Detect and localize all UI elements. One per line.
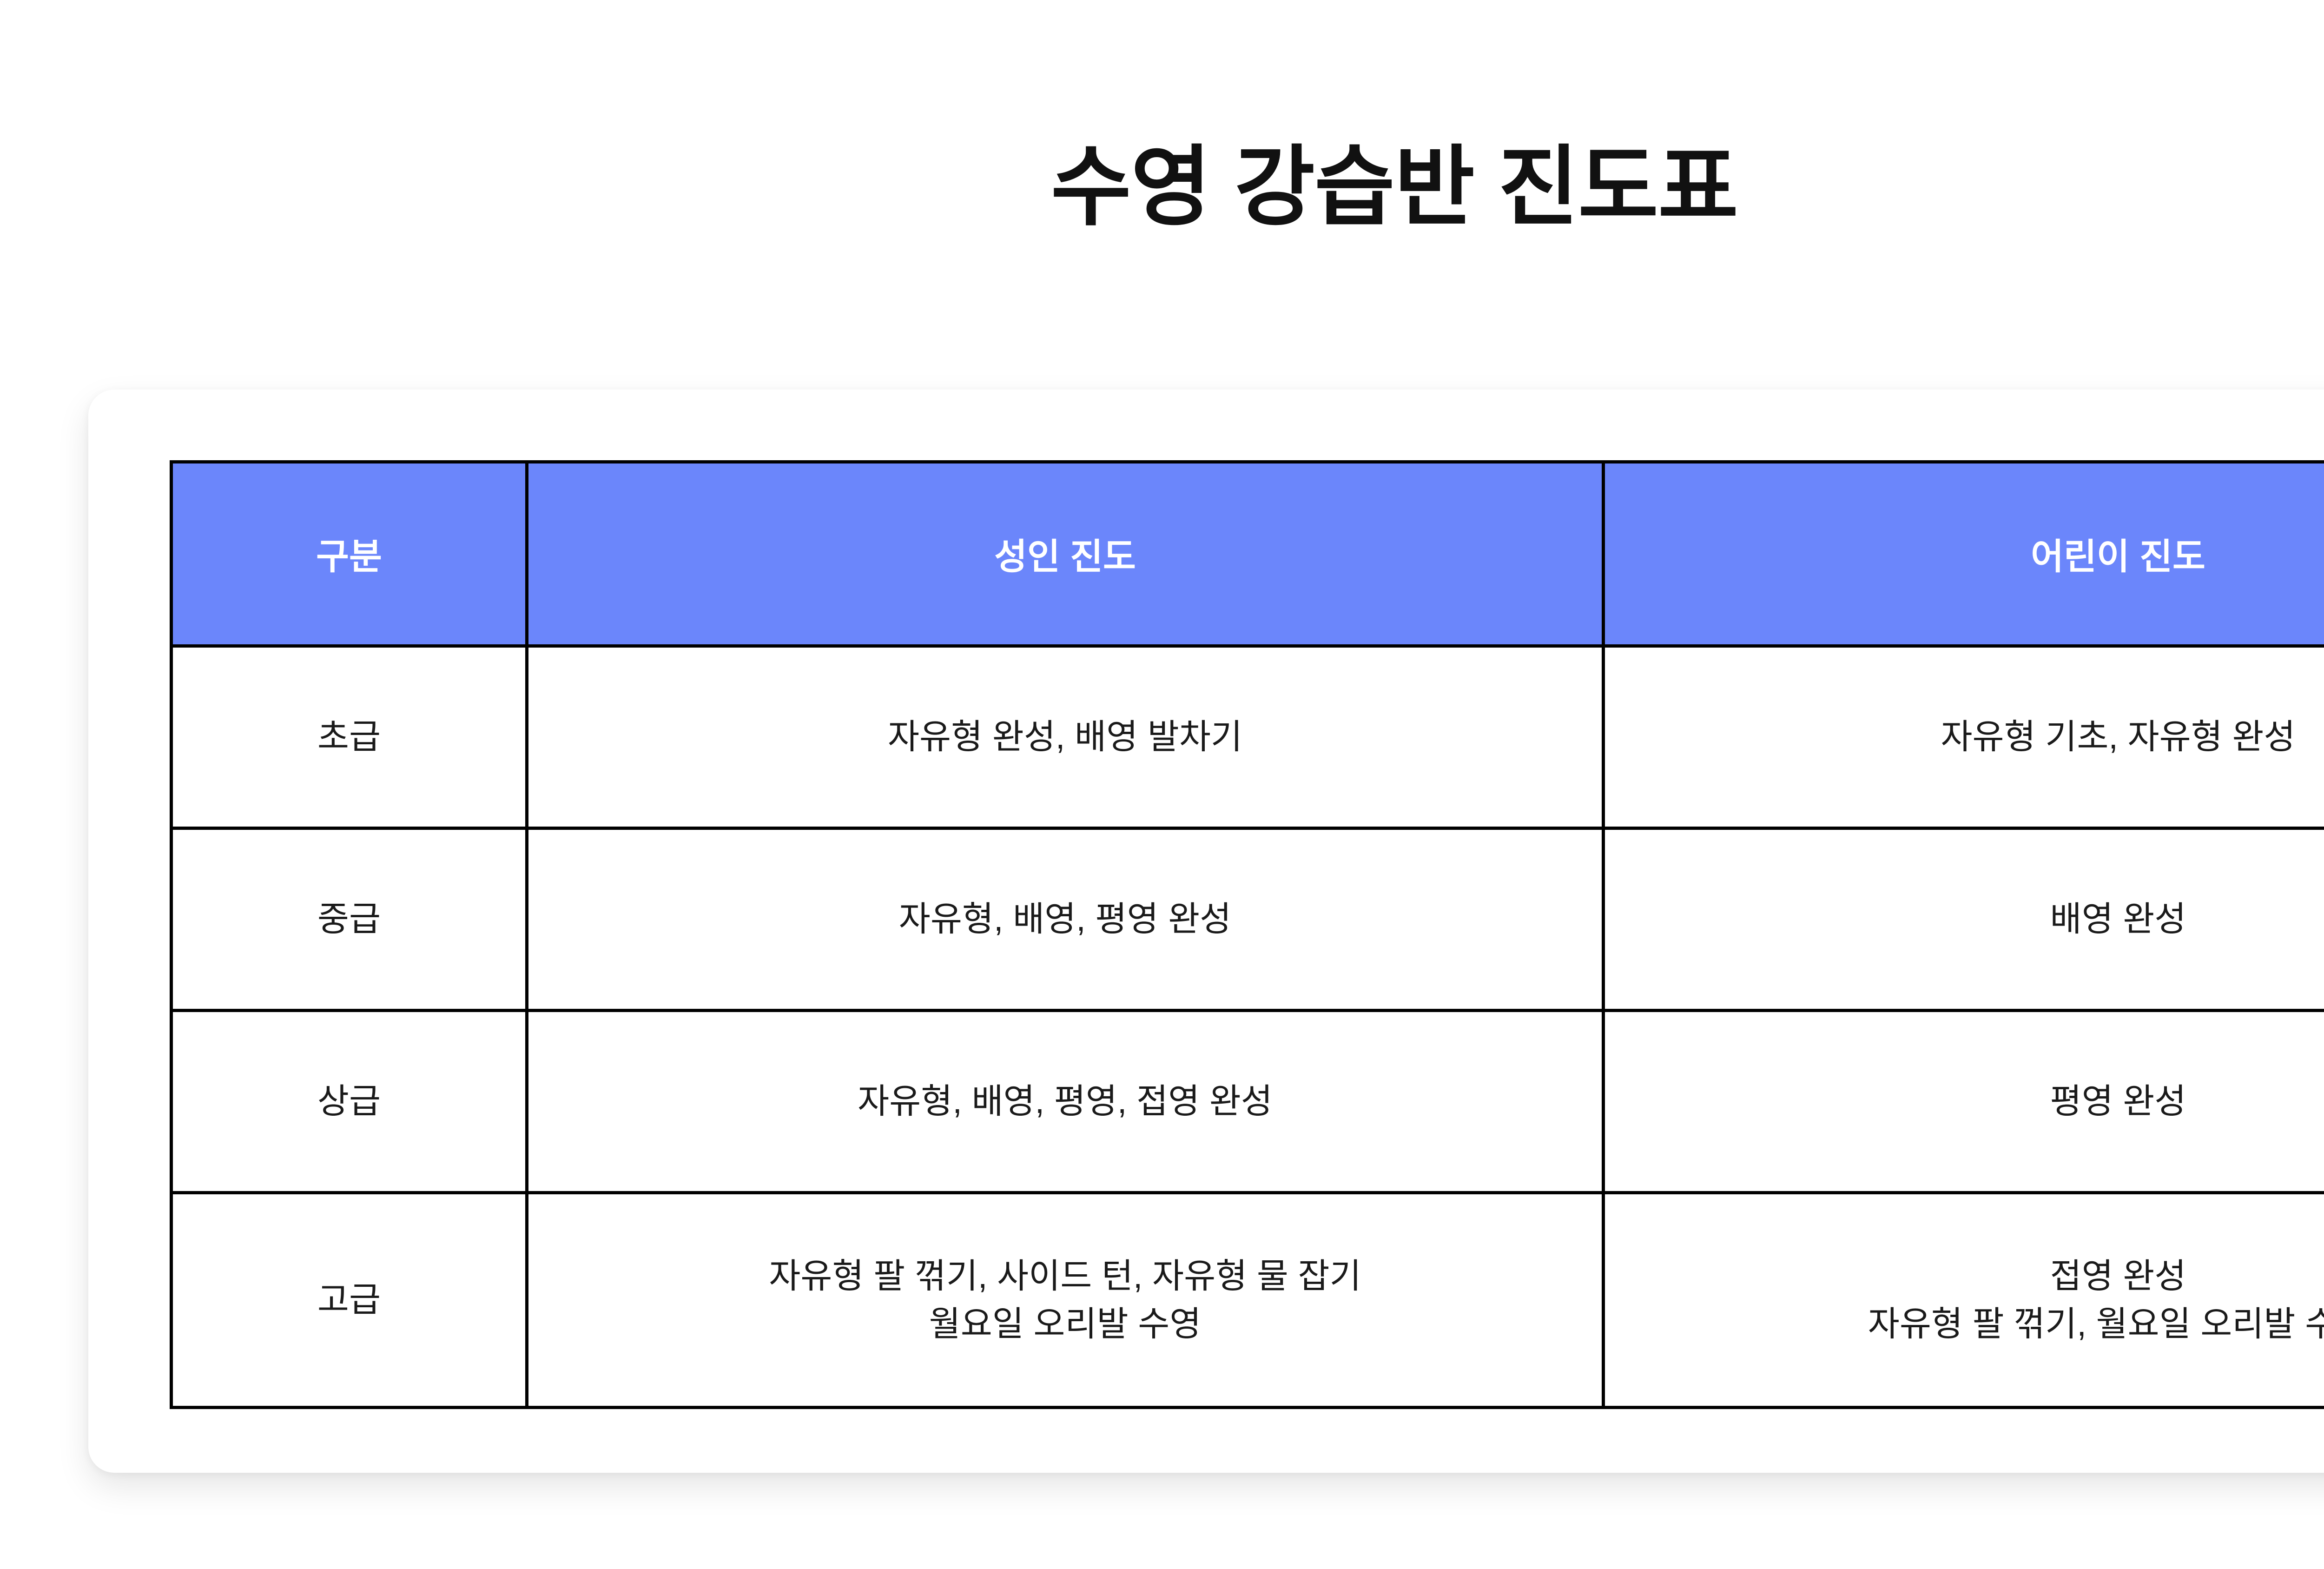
cell-text-line: 자유형, 배영, 평영, 접영 완성 [540, 1078, 1591, 1125]
cell-kids-progress: 접영 완성 자유형 팔 꺾기, 월요일 오리발 수영 [1604, 1193, 2324, 1408]
cell-level: 중급 [172, 828, 527, 1011]
cell-kids-progress: 배영 완성 [1604, 828, 2324, 1011]
cell-level: 상급 [172, 1011, 527, 1193]
table-card: 구분 성인 진도 어린이 진도 초급 자유형 완성, 배영 발차기 자유형 기초… [88, 390, 2324, 1473]
table-head: 구분 성인 진도 어린이 진도 [172, 462, 2324, 646]
cell-text-line: 자유형, 배영, 평영 완성 [540, 895, 1591, 943]
column-header-adult: 성인 진도 [527, 462, 1604, 646]
page-root: 수영 강습반 진도표 구분 성인 진도 어린이 진도 초급 [0, 0, 2324, 1569]
cell-text-line: 배영 완성 [1616, 895, 2324, 943]
cell-kids-progress: 자유형 기초, 자유형 완성 [1604, 646, 2324, 828]
table-row: 상급 자유형, 배영, 평영, 접영 완성 평영 완성 [172, 1011, 2324, 1193]
cell-adult-progress: 자유형 팔 꺾기, 사이드 턴, 자유형 물 잡기 월요일 오리발 수영 [527, 1193, 1604, 1408]
cell-text-line: 자유형 팔 꺾기, 사이드 턴, 자유형 물 잡기 [540, 1252, 1591, 1300]
cell-text-line: 월요일 오리발 수영 [540, 1300, 1591, 1348]
cell-level: 초급 [172, 646, 527, 828]
cell-kids-progress: 평영 완성 [1604, 1011, 2324, 1193]
cell-text-line: 접영 완성 [1616, 1252, 2324, 1300]
cell-text-line: 자유형 팔 꺾기, 월요일 오리발 수영 [1616, 1300, 2324, 1348]
page-title: 수영 강습반 진도표 [0, 135, 2324, 240]
cell-text-line: 평영 완성 [1616, 1078, 2324, 1125]
table-container: 구분 성인 진도 어린이 진도 초급 자유형 완성, 배영 발차기 자유형 기초… [170, 460, 2324, 1409]
cell-level: 고급 [172, 1193, 527, 1408]
cell-adult-progress: 자유형 완성, 배영 발차기 [527, 646, 1604, 828]
table-row: 중급 자유형, 배영, 평영 완성 배영 완성 [172, 828, 2324, 1011]
swimming-progress-table: 구분 성인 진도 어린이 진도 초급 자유형 완성, 배영 발차기 자유형 기초… [170, 460, 2324, 1409]
cell-adult-progress: 자유형, 배영, 평영 완성 [527, 828, 1604, 1011]
cell-adult-progress: 자유형, 배영, 평영, 접영 완성 [527, 1011, 1604, 1193]
column-header-kids: 어린이 진도 [1604, 462, 2324, 646]
table-header-row: 구분 성인 진도 어린이 진도 [172, 462, 2324, 646]
table-row: 고급 자유형 팔 꺾기, 사이드 턴, 자유형 물 잡기 월요일 오리발 수영 … [172, 1193, 2324, 1408]
cell-text-line: 자유형 기초, 자유형 완성 [1616, 713, 2324, 761]
table-row: 초급 자유형 완성, 배영 발차기 자유형 기초, 자유형 완성 [172, 646, 2324, 828]
column-header-category: 구분 [172, 462, 527, 646]
table-body: 초급 자유형 완성, 배영 발차기 자유형 기초, 자유형 완성 중급 자유형,… [172, 646, 2324, 1408]
cell-text-line: 자유형 완성, 배영 발차기 [540, 713, 1591, 761]
